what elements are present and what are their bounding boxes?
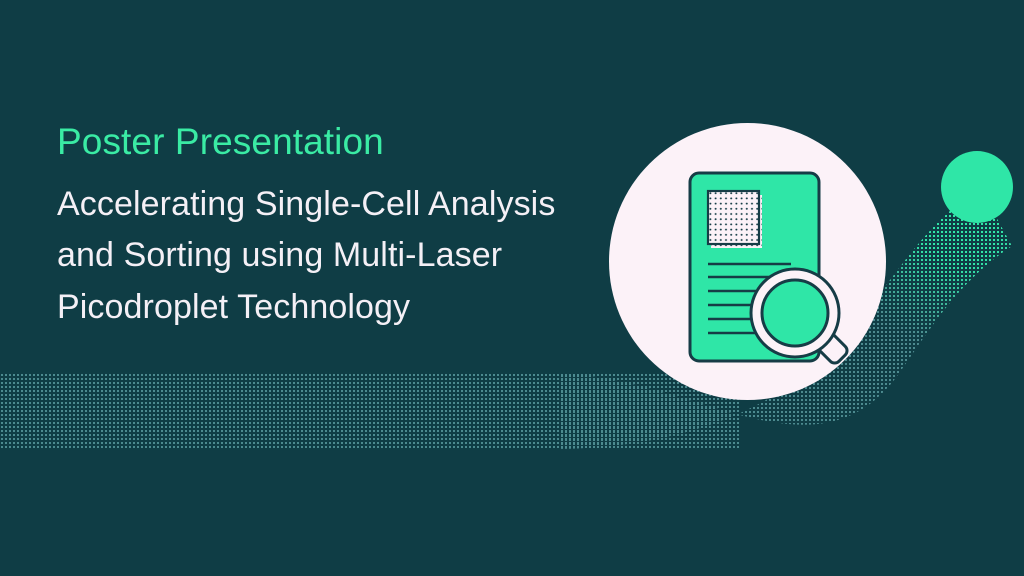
magnifier-lens (762, 280, 828, 346)
poster-presentation-banner: Poster Presentation Accelerating Single-… (0, 0, 1024, 576)
text-block: Poster Presentation Accelerating Single-… (57, 122, 602, 334)
green-dot-accent (941, 151, 1013, 223)
document-magnifier-artwork (609, 123, 886, 400)
halftone-image-block (708, 191, 762, 248)
page-title: Accelerating Single-Cell Analysis and So… (57, 179, 602, 334)
illustration-document-with-magnifier (609, 123, 886, 400)
eyebrow-label: Poster Presentation (57, 122, 602, 163)
